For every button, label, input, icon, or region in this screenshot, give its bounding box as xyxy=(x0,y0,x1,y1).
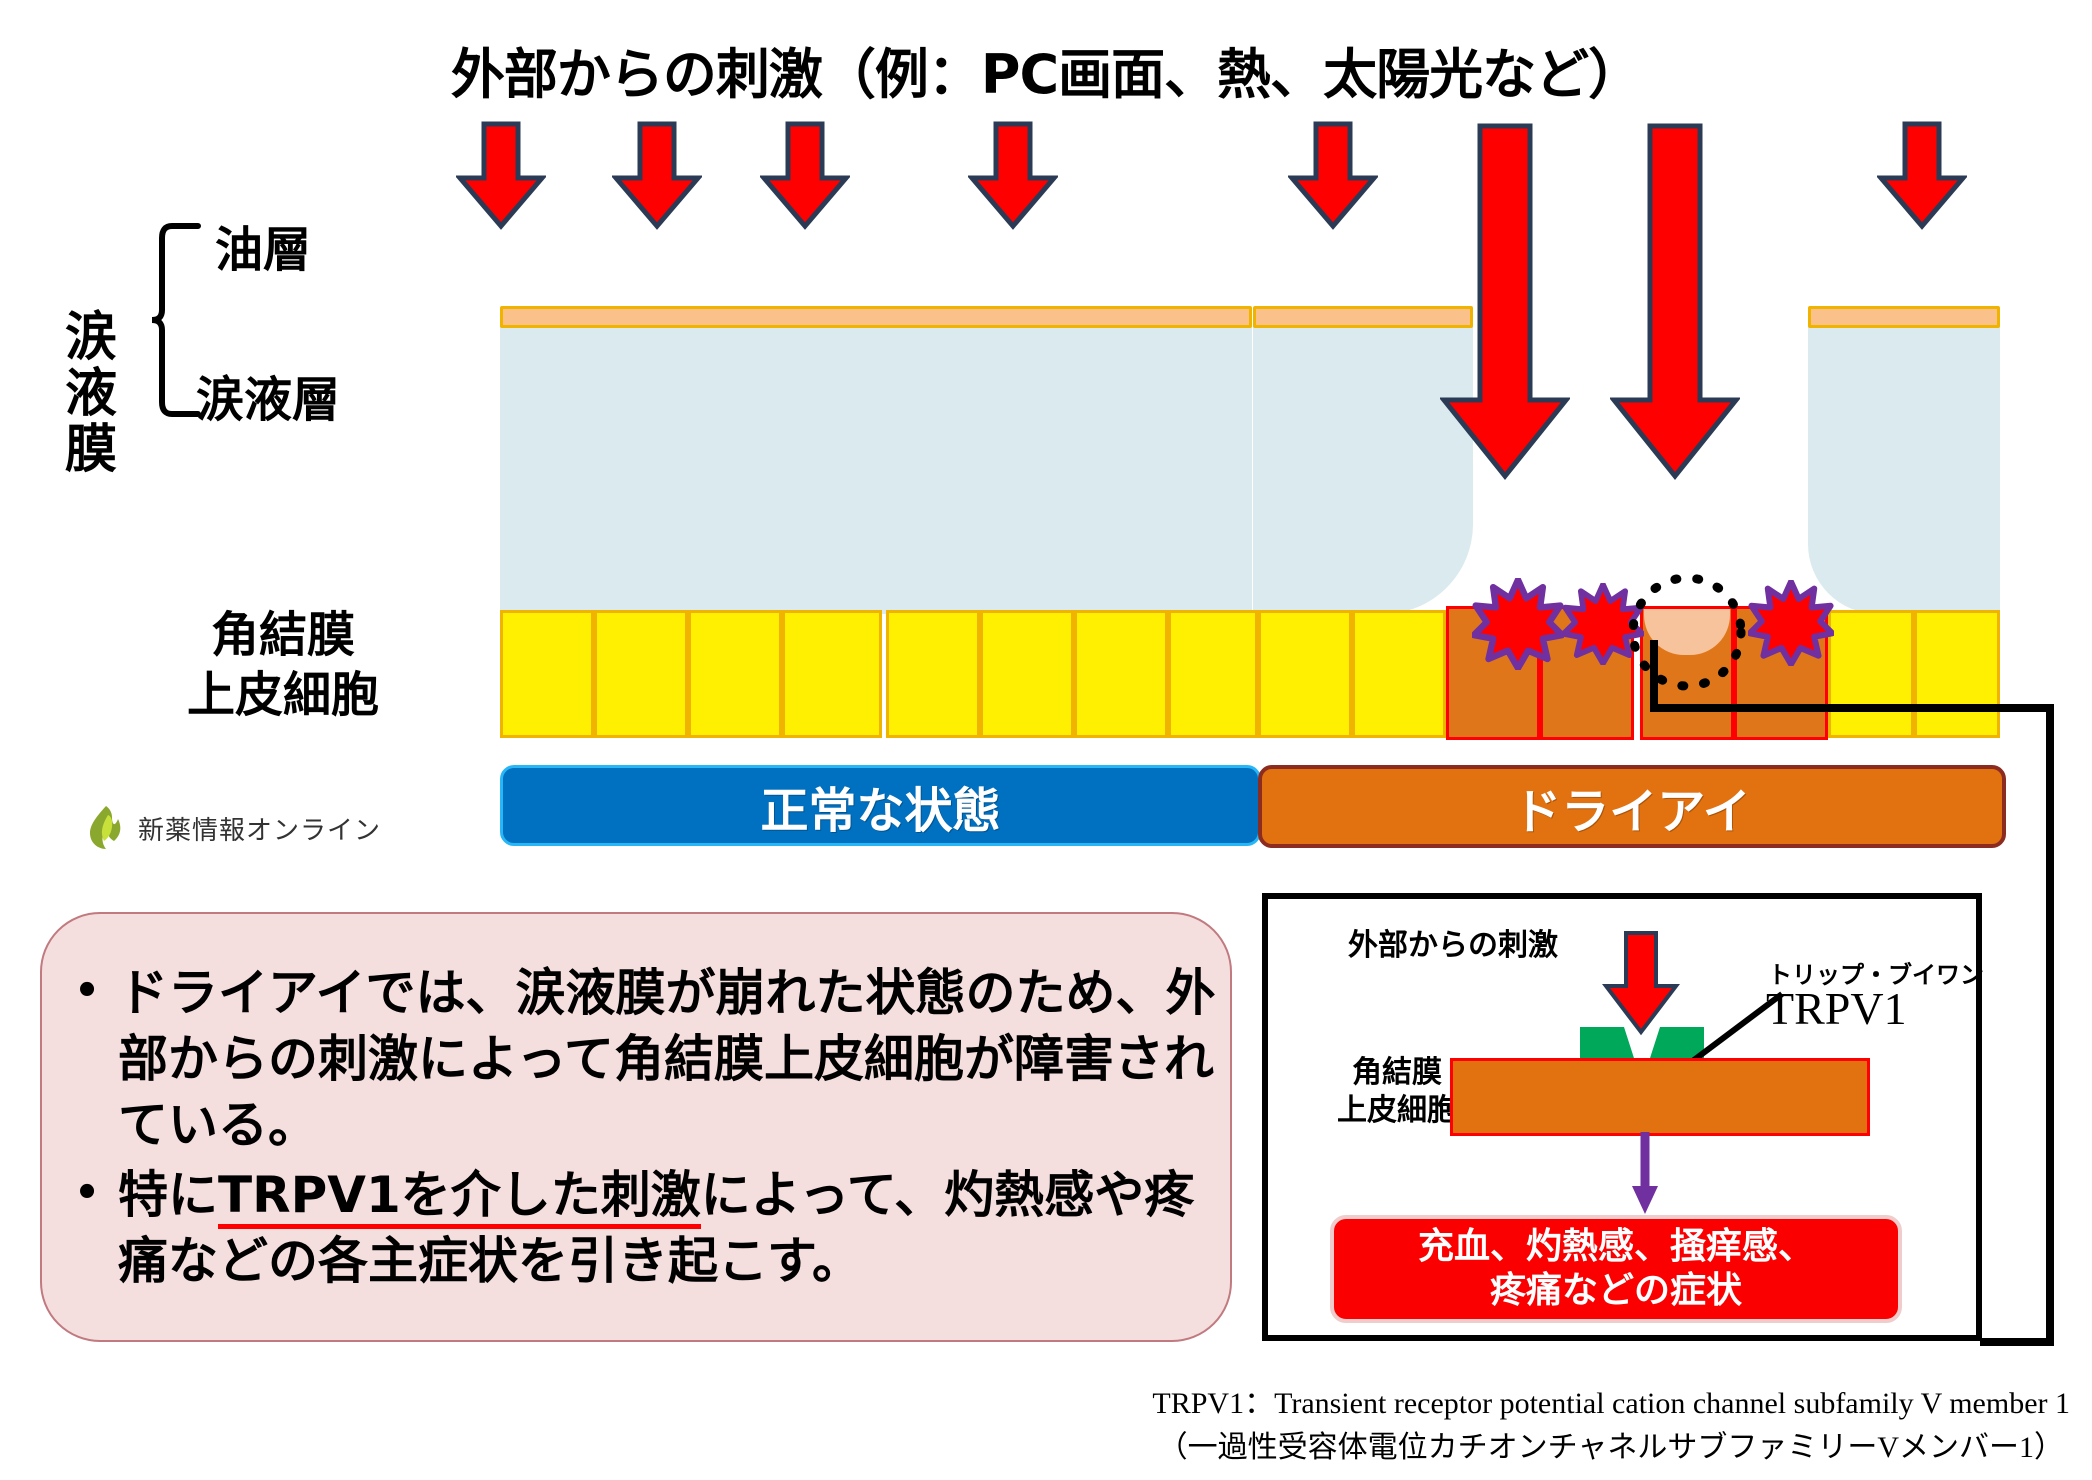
bullet-text: 特にTRPV1を介した刺激によって、灼熱感や疼痛などの各主症状を引き起こす。 xyxy=(118,1162,1226,1294)
banner-normal-state: 正常な状態 xyxy=(500,765,1261,846)
footnote-line2: （一過性受容体電位カチオンチャネルサブファミリーVメンバー1） xyxy=(0,1426,2070,1470)
epithelial-cell xyxy=(1168,610,1258,738)
oil-layer-dry-right xyxy=(1808,306,2000,328)
label-aqueous-layer: 涙液層 xyxy=(196,360,340,430)
site-logo-text: 新薬情報オンライン xyxy=(138,810,381,847)
aqueous-layer-normal xyxy=(500,308,1252,614)
epithelial-cell xyxy=(688,610,782,738)
label-tear-film: 涙液膜 xyxy=(46,310,136,478)
bullet-text-underlined: TRPV1を介した刺激 xyxy=(218,1166,701,1229)
epithelial-cell xyxy=(500,610,594,738)
bullet-marker: • xyxy=(56,1162,118,1294)
epithelial-cell xyxy=(782,610,882,738)
stimulus-arrow-penetrating xyxy=(1610,122,1740,482)
epithelial-cell xyxy=(594,610,688,738)
bullet-marker: • xyxy=(56,960,118,1158)
site-logo: 新薬情報オンライン xyxy=(88,805,381,851)
leaf-flame-icon xyxy=(88,805,124,851)
label-oil-layer: 油層 xyxy=(215,210,311,280)
inset-trpv1-label: TRPV1 xyxy=(1766,982,1907,1035)
summary-bullet-list: • ドライアイでは、涙液膜が崩れた状態のため、外部からの刺激によって角結膜上皮細… xyxy=(56,960,1226,1298)
symptom-text: 充血、灼熱感、掻痒感、 疼痛などの症状 xyxy=(1418,1225,1814,1313)
bullet-text-pre: 特に xyxy=(118,1166,218,1224)
label-epithelium-line2: 上皮細胞 xyxy=(168,665,398,725)
epithelial-cell xyxy=(980,610,1074,738)
bullet-text: ドライアイでは、涙液膜が崩れた状態のため、外部からの刺激によって角結膜上皮細胞が… xyxy=(118,960,1226,1158)
stimulus-arrow xyxy=(456,120,546,230)
symptom-box: 充血、灼熱感、掻痒感、 疼痛などの症状 xyxy=(1330,1215,1902,1323)
symptom-line2: 疼痛などの症状 xyxy=(1418,1269,1814,1313)
epithelial-cell xyxy=(1258,610,1352,738)
stimulus-arrow xyxy=(612,120,702,230)
list-item: • ドライアイでは、涙液膜が崩れた状態のため、外部からの刺激によって角結膜上皮細… xyxy=(56,960,1226,1158)
inset-epithelial-cell-bar xyxy=(1450,1058,1870,1136)
stimulus-arrow xyxy=(1288,120,1378,230)
banner-dry-eye: ドライアイ xyxy=(1258,765,2006,848)
epithelial-cell xyxy=(1352,610,1446,738)
footnote: TRPV1：Transient receptor potential catio… xyxy=(0,1382,2070,1469)
symptom-line1: 充血、灼熱感、掻痒感、 xyxy=(1418,1225,1814,1269)
damage-burst-icon xyxy=(1472,578,1564,675)
inset-label-stimulus: 外部からの刺激 xyxy=(1348,920,1558,964)
signal-arrow-icon xyxy=(1630,1132,1660,1216)
stimulus-arrow-penetrating xyxy=(1440,122,1570,482)
footnote-line1: TRPV1：Transient receptor potential catio… xyxy=(0,1382,2070,1426)
page-title: 外部からの刺激（例：PC画面、熱、太陽光など） xyxy=(0,30,2092,109)
inset-stimulus-arrow xyxy=(1602,930,1680,1036)
callout-connector-bottom xyxy=(1980,1260,2090,1350)
list-item: • 特にTRPV1を介した刺激によって、灼熱感や疼痛などの各主症状を引き起こす。 xyxy=(56,1162,1226,1294)
stimulus-arrow xyxy=(1877,120,1967,230)
epithelial-cell xyxy=(886,610,980,738)
stimulus-arrow xyxy=(968,120,1058,230)
aqueous-layer-dry-right xyxy=(1808,308,2000,614)
label-epithelium-line1: 角結膜 xyxy=(168,605,398,665)
epithelial-cell xyxy=(1074,610,1168,738)
oil-layer-normal xyxy=(500,306,1252,328)
label-epithelium: 角結膜 上皮細胞 xyxy=(168,605,398,725)
stimulus-arrow xyxy=(760,120,850,230)
